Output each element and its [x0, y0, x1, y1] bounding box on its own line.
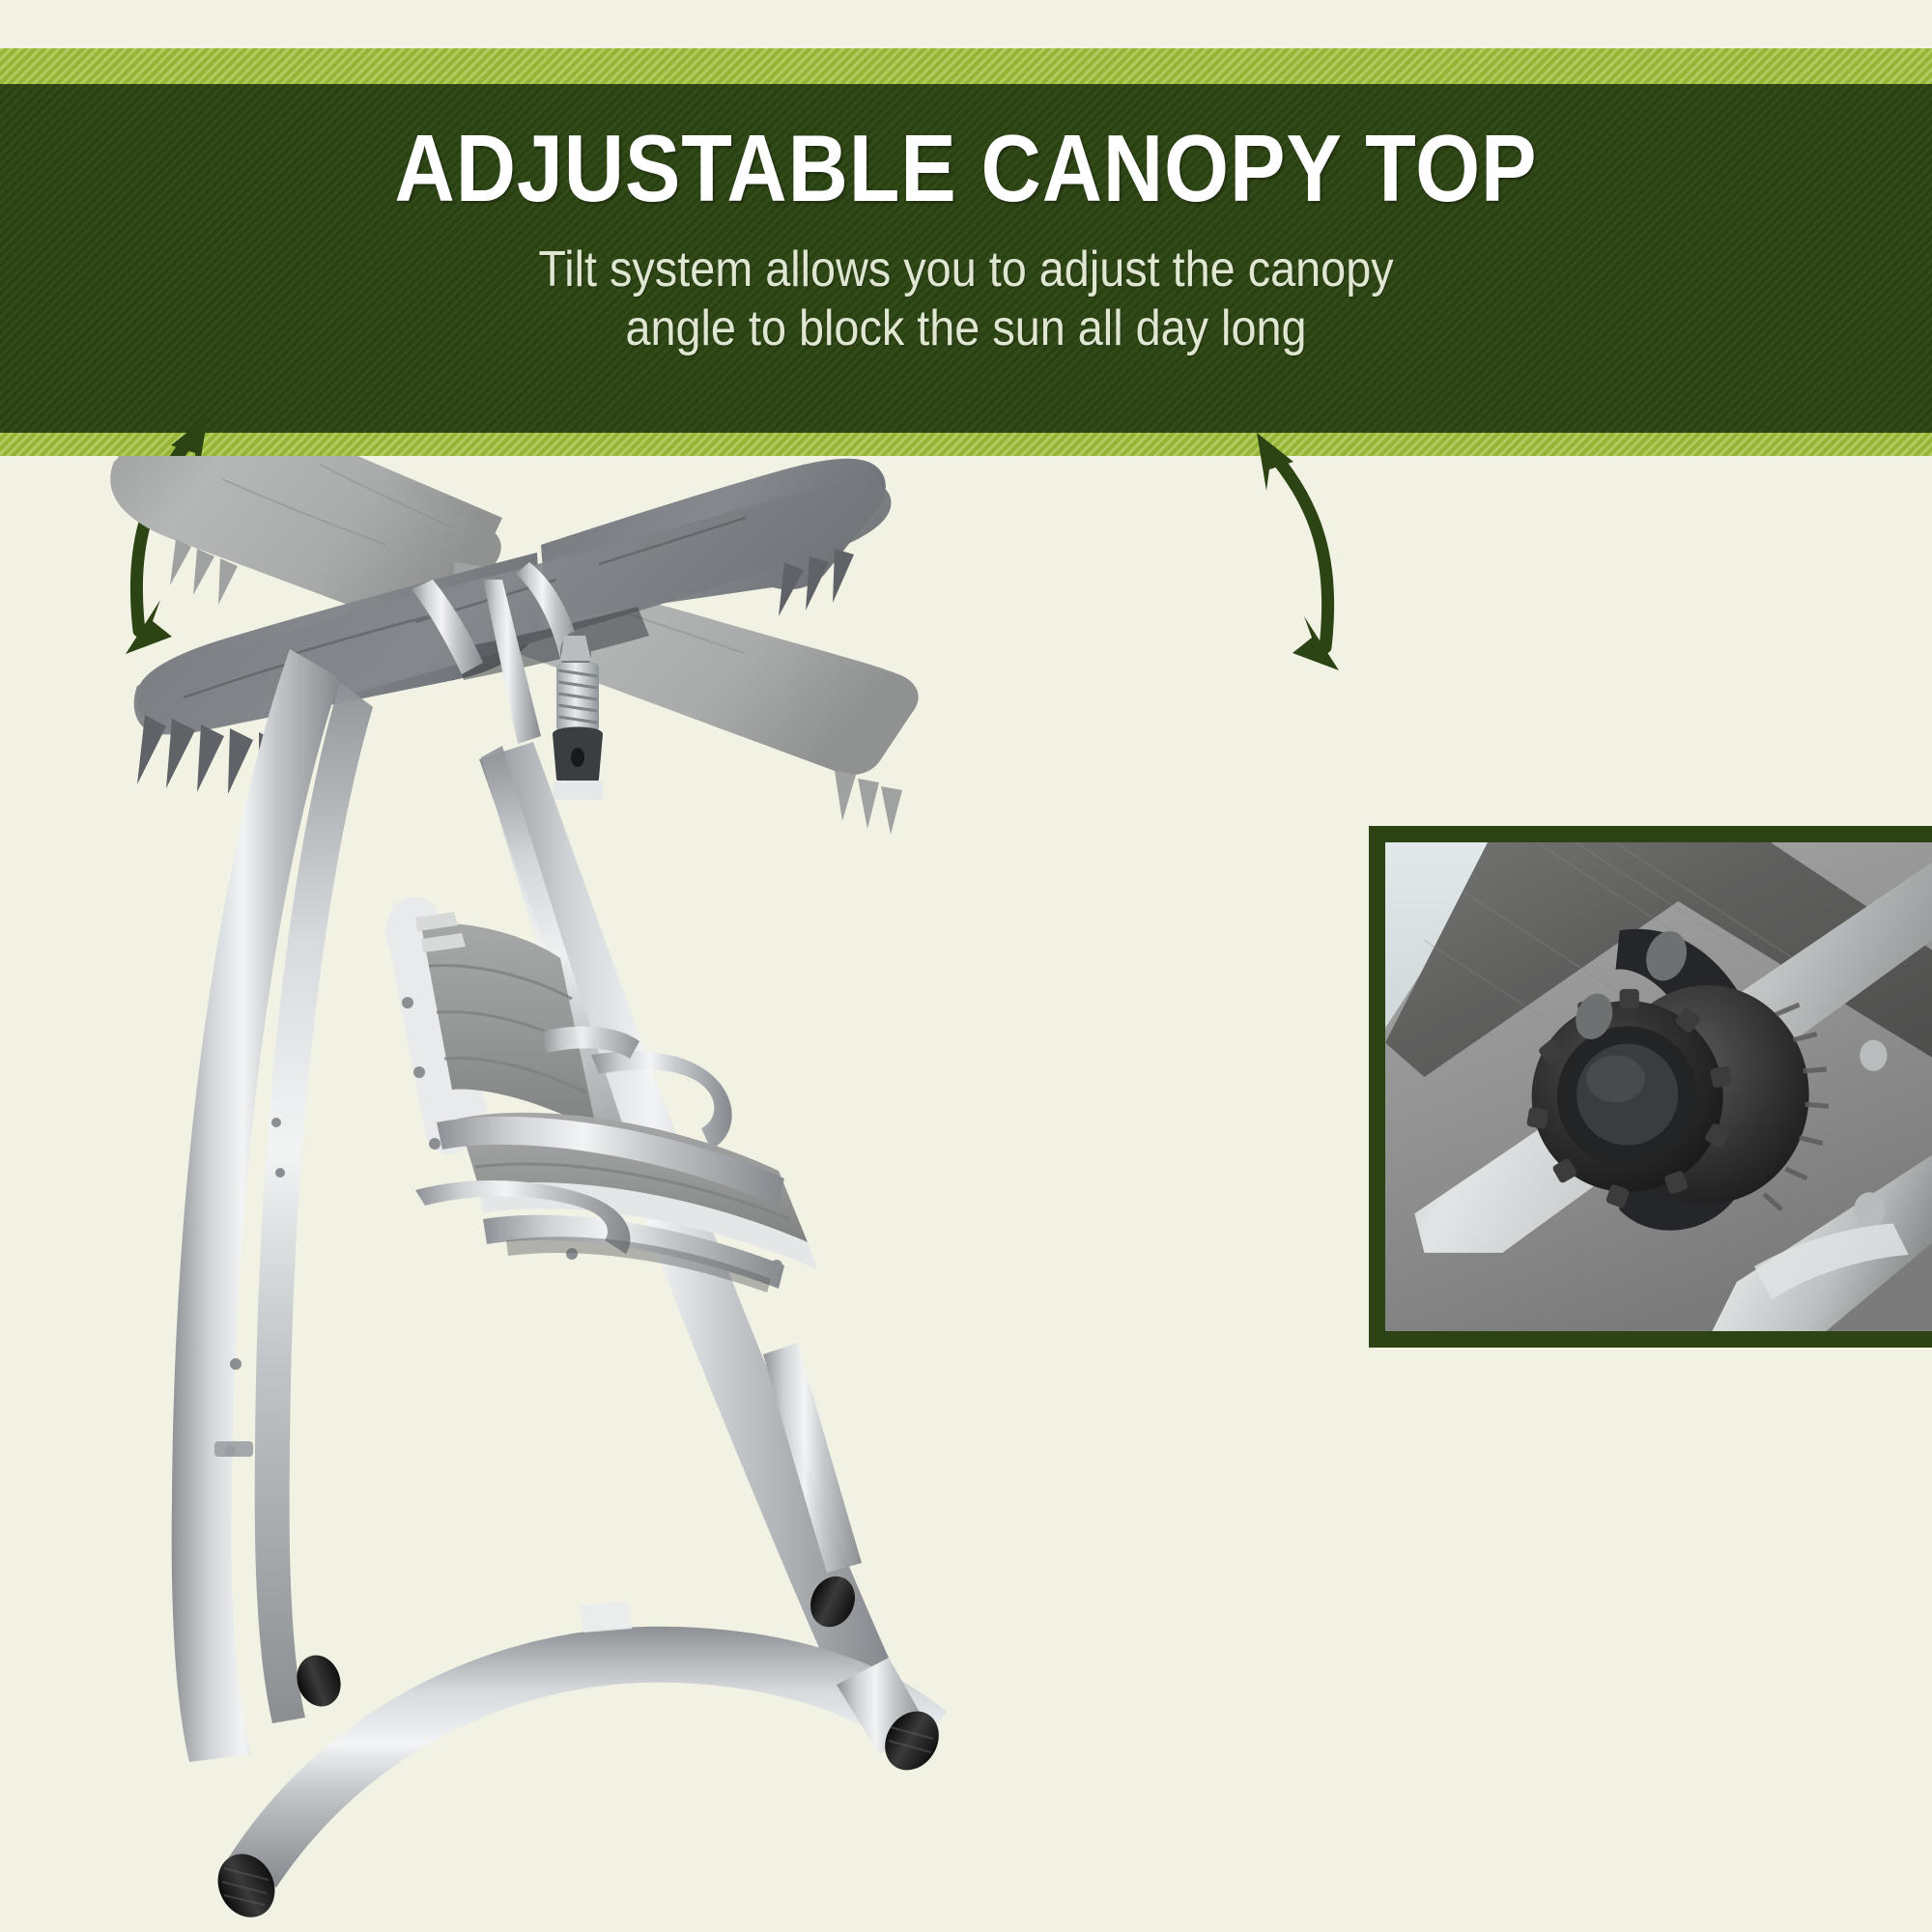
page-subtitle-line-1: Tilt system allows you to adjust the can… [97, 241, 1835, 299]
banner-accent-stripe-bottom [0, 433, 1932, 456]
detail-closeup-inset [1369, 826, 1932, 1348]
page-subtitle: Tilt system allows you to adjust the can… [97, 215, 1835, 359]
banner-text-block: ADJUSTABLE CANOPY TOP Tilt system allows… [0, 84, 1932, 433]
product-feature-card: ADJUSTABLE CANOPY TOP Tilt system allows… [0, 0, 1932, 1932]
banner-accent-stripe-top [0, 48, 1932, 84]
product-photo [0, 456, 1372, 1932]
header-banner: ADJUSTABLE CANOPY TOP Tilt system allows… [0, 48, 1932, 456]
tension-spring-icon [556, 663, 599, 732]
page-subtitle-line-2: angle to block the sun all day long [97, 299, 1835, 358]
page-title: ADJUSTABLE CANOPY TOP [116, 84, 1816, 215]
